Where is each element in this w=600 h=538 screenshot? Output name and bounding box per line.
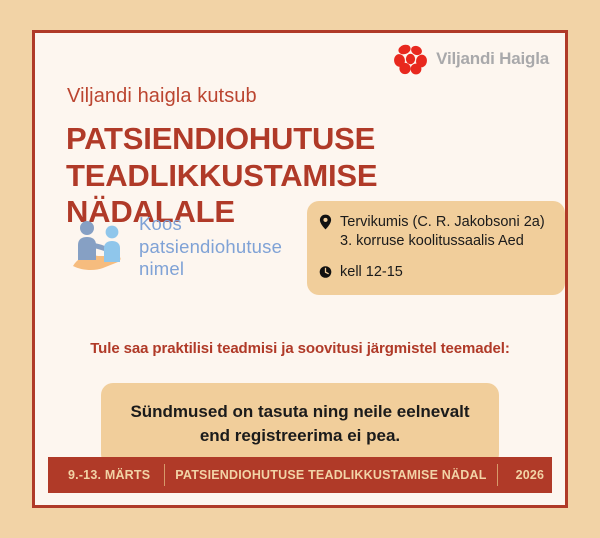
poster-root: Viljandi Haigla Viljandi haigla kutsub P… [0, 0, 600, 538]
event-info-box: Tervikumis (C. R. Jakobsoni 2a) 3. korru… [307, 201, 565, 295]
campaign-logo: Koos patsiendiohutuse nimel [35, 213, 303, 281]
event-location-line-2: 3. korruse koolitussaalis Aed [340, 232, 545, 251]
notice-line-1: Sündmused on tasuta ning neile eelnevalt [119, 400, 481, 424]
campaign-word-1: Koos [139, 213, 282, 236]
two-people-in-hand-icon [71, 218, 135, 276]
clock-icon [319, 264, 332, 280]
event-time-text: kell 12-15 [340, 263, 403, 282]
campaign-word-3: nimel [139, 258, 282, 281]
event-time-value: kell 12-15 [340, 263, 403, 282]
event-location-text: Tervikumis (C. R. Jakobsoni 2a) 3. korru… [340, 213, 545, 251]
notice-line-2: end registreerima ei pea. [119, 424, 481, 448]
kicker-text: Viljandi haigla kutsub [67, 85, 257, 108]
flower-petal-icon [393, 43, 429, 75]
event-time: kell 12-15 [319, 263, 551, 282]
event-location-line-1: Tervikumis (C. R. Jakobsoni 2a) [340, 213, 545, 232]
footer-date-range: 9.-13. MÄRTS [48, 468, 164, 482]
footer-campaign-title: PATSIENDIOHUTUSE TEADLIKKUSTAMISE NÄDAL [165, 468, 496, 482]
free-entry-notice: Sündmused on tasuta ning neile eelnevalt… [101, 383, 499, 466]
footer-bar: 9.-13. MÄRTS PATSIENDIOHUTUSE TEADLIKKUS… [48, 457, 552, 493]
footer-year: 2026 [498, 468, 565, 482]
headline-line-1: PATSIENDIOHUTUSE [66, 121, 375, 156]
topics-prompt: Tule saa praktilisi teadmisi ja soovitus… [35, 340, 565, 357]
event-location: Tervikumis (C. R. Jakobsoni 2a) 3. korru… [319, 213, 551, 251]
campaign-word-2: patsiendiohutuse [139, 236, 282, 259]
poster-card: Viljandi Haigla Viljandi haigla kutsub P… [32, 30, 568, 508]
hospital-brand-name: Viljandi Haigla [436, 49, 549, 69]
middle-band: Koos patsiendiohutuse nimel Tervikumis (… [35, 201, 565, 295]
location-pin-icon [319, 214, 332, 230]
hospital-brand: Viljandi Haigla [393, 43, 549, 75]
campaign-logo-text: Koos patsiendiohutuse nimel [139, 213, 282, 281]
